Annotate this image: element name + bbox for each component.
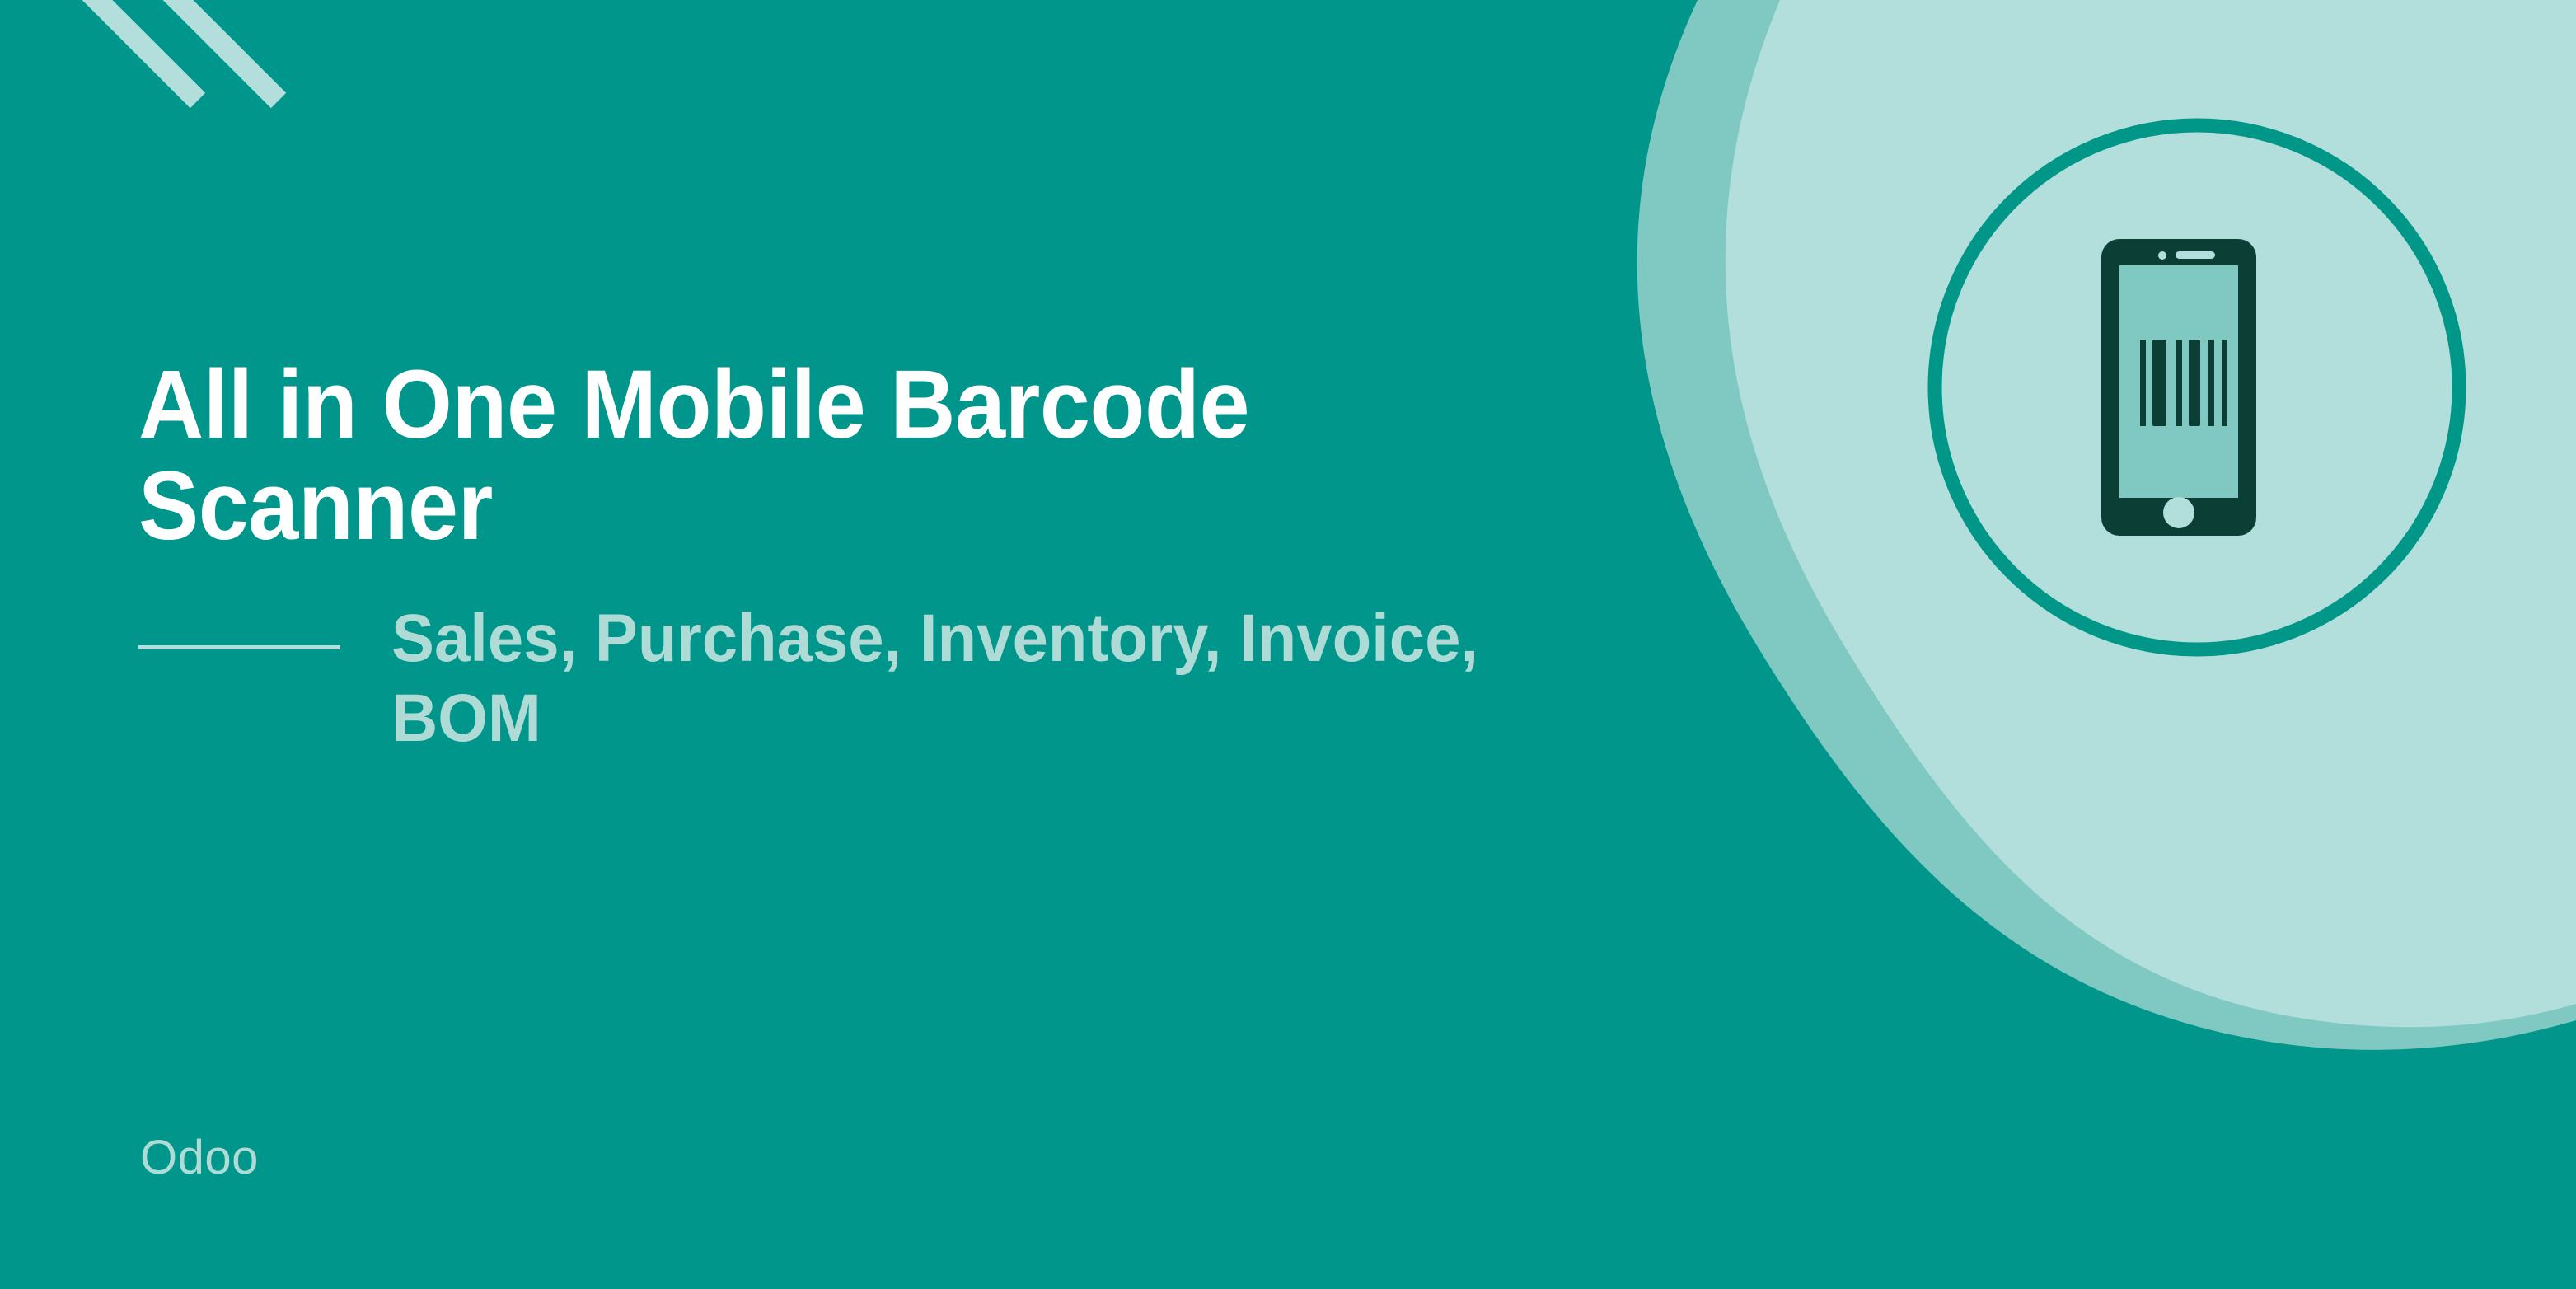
- page-subtitle: Sales, Purchase, Inventory, Invoice, BOM: [391, 599, 1478, 759]
- phone-home-button: [2163, 497, 2194, 528]
- subtitle-row: Sales, Purchase, Inventory, Invoice, BOM: [138, 599, 1754, 759]
- barcode-bar: [2176, 340, 2182, 426]
- slide-canvas: All in One Mobile Barcode Scanner Sales,…: [0, 0, 2576, 1289]
- phone-speaker-slot: [2176, 251, 2215, 259]
- subtitle-dash-rule: [138, 645, 340, 649]
- headline-block: All in One Mobile Barcode Scanner Sales,…: [138, 354, 1754, 759]
- phone-camera-dot: [2158, 251, 2166, 260]
- barcode-bar: [2140, 340, 2146, 426]
- barcode-bar: [2208, 340, 2214, 426]
- brand-label: Odoo: [140, 1134, 259, 1182]
- page-title: All in One Mobile Barcode Scanner: [138, 354, 1618, 556]
- barcode-bar: [2189, 340, 2200, 426]
- barcode-bar: [2222, 340, 2227, 426]
- barcode-bar: [2152, 340, 2166, 426]
